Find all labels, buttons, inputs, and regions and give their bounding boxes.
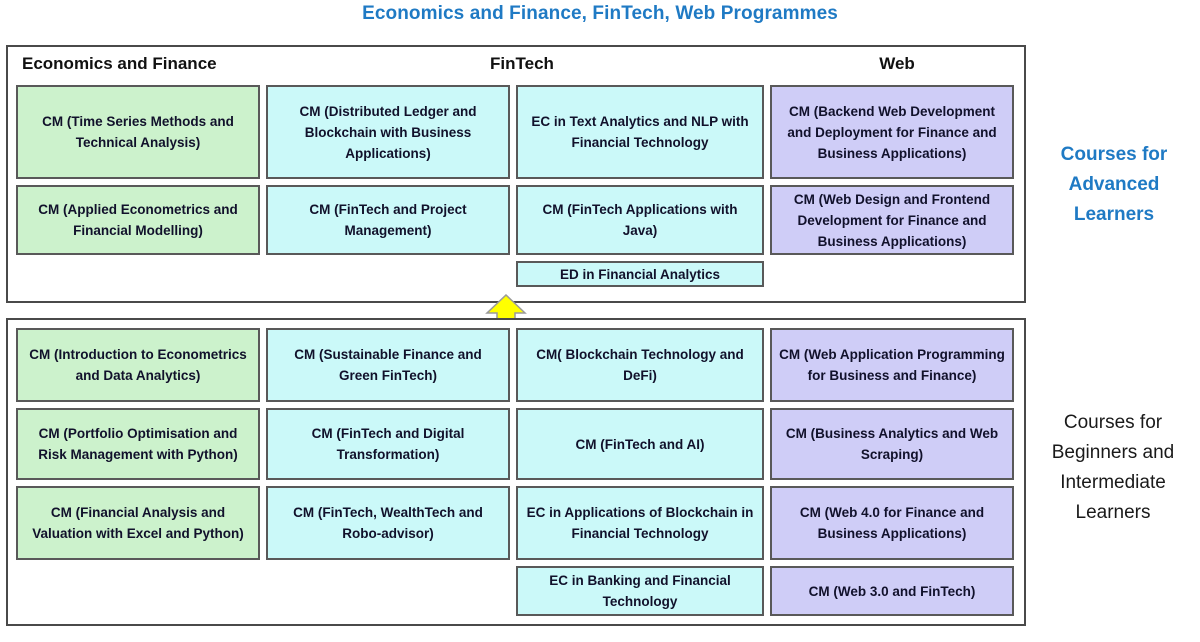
advanced-economics-column: CM (Time Series Methods and Technical An…: [16, 85, 260, 261]
diagram-canvas: Economics and Finance, FinTech, Web Prog…: [0, 0, 1200, 642]
course-card[interactable]: CM( Blockchain Technology and DeFi): [516, 328, 764, 402]
course-card[interactable]: CM (FinTech Applications with Java): [516, 185, 764, 255]
side-label-beginner: Courses for Beginners and Intermediate L…: [1026, 408, 1200, 528]
course-card[interactable]: CM (Distributed Ledger and Blockchain wi…: [266, 85, 510, 179]
course-card[interactable]: CM (Time Series Methods and Technical An…: [16, 85, 260, 179]
course-card[interactable]: EC in Applications of Blockchain in Fina…: [516, 486, 764, 560]
course-card[interactable]: CM (Web Design and Frontend Development …: [770, 185, 1014, 255]
advanced-courses-group: Economics and Finance FinTech Web CM (Ti…: [6, 45, 1026, 303]
course-card[interactable]: CM (FinTech and AI): [516, 408, 764, 480]
course-card[interactable]: CM (Business Analytics and Web Scraping): [770, 408, 1014, 480]
column-header-web: Web: [772, 53, 1022, 75]
course-card[interactable]: CM (Sustainable Finance and Green FinTec…: [266, 328, 510, 402]
side-label-advanced: Courses for Advanced Learners: [1034, 140, 1194, 230]
beginner-fintech-right-column: CM( Blockchain Technology and DeFi) CM (…: [516, 328, 764, 622]
advanced-fintech-left-column: CM (Distributed Ledger and Blockchain wi…: [266, 85, 510, 261]
course-card[interactable]: CM (Backend Web Development and Deployme…: [770, 85, 1014, 179]
course-card[interactable]: CM (FinTech and Project Management): [266, 185, 510, 255]
course-card[interactable]: ED in Financial Analytics: [516, 261, 764, 287]
advanced-web-column: CM (Backend Web Development and Deployme…: [770, 85, 1014, 261]
column-header-economics: Economics and Finance: [22, 53, 272, 75]
beginner-economics-column: CM (Introduction to Econometrics and Dat…: [16, 328, 260, 566]
beginner-courses-group: CM (Introduction to Econometrics and Dat…: [6, 318, 1026, 626]
course-card[interactable]: CM (Portfolio Optimisation and Risk Mana…: [16, 408, 260, 480]
course-card[interactable]: CM (FinTech, WealthTech and Robo-advisor…: [266, 486, 510, 560]
course-card[interactable]: CM (Web 4.0 for Finance and Business App…: [770, 486, 1014, 560]
course-card[interactable]: CM (FinTech and Digital Transformation): [266, 408, 510, 480]
advanced-fintech-right-column: EC in Text Analytics and NLP with Financ…: [516, 85, 764, 293]
column-header-fintech: FinTech: [272, 53, 772, 75]
course-card[interactable]: CM (Web Application Programming for Busi…: [770, 328, 1014, 402]
page-title: Economics and Finance, FinTech, Web Prog…: [0, 3, 1200, 25]
course-card[interactable]: EC in Banking and Financial Technology: [516, 566, 764, 616]
course-card[interactable]: EC in Text Analytics and NLP with Financ…: [516, 85, 764, 179]
course-card[interactable]: CM (Applied Econometrics and Financial M…: [16, 185, 260, 255]
beginner-web-column: CM (Web Application Programming for Busi…: [770, 328, 1014, 622]
beginner-fintech-left-column: CM (Sustainable Finance and Green FinTec…: [266, 328, 510, 566]
course-card[interactable]: CM (Web 3.0 and FinTech): [770, 566, 1014, 616]
course-card[interactable]: CM (Financial Analysis and Valuation wit…: [16, 486, 260, 560]
course-card[interactable]: CM (Introduction to Econometrics and Dat…: [16, 328, 260, 402]
